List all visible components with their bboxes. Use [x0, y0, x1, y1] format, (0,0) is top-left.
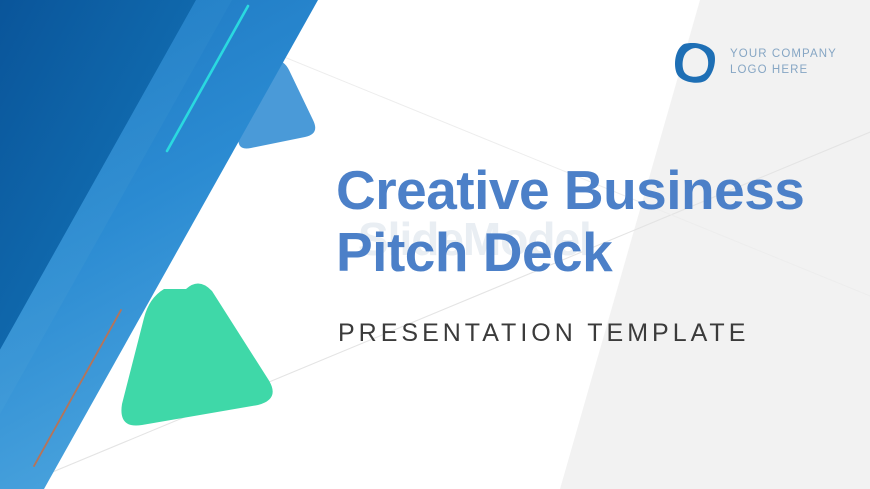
- company-logo-line1: YOUR COMPANY: [730, 47, 837, 63]
- company-logo-text: YOUR COMPANY LOGO HERE: [730, 47, 837, 78]
- rounded-square-ring-logo-icon: [672, 40, 718, 86]
- page-title: Creative Business Pitch Deck: [336, 160, 836, 283]
- company-logo-line2: LOGO HERE: [730, 63, 837, 79]
- presentation-slide: SlideModel YOUR COMPANY LOGO HERE Creati…: [0, 0, 870, 489]
- company-logo[interactable]: YOUR COMPANY LOGO HERE: [672, 40, 837, 86]
- slide-subtitle: PRESENTATION TEMPLATE: [338, 319, 836, 348]
- slide-text-block: Creative Business Pitch Deck PRESENTATIO…: [336, 160, 836, 348]
